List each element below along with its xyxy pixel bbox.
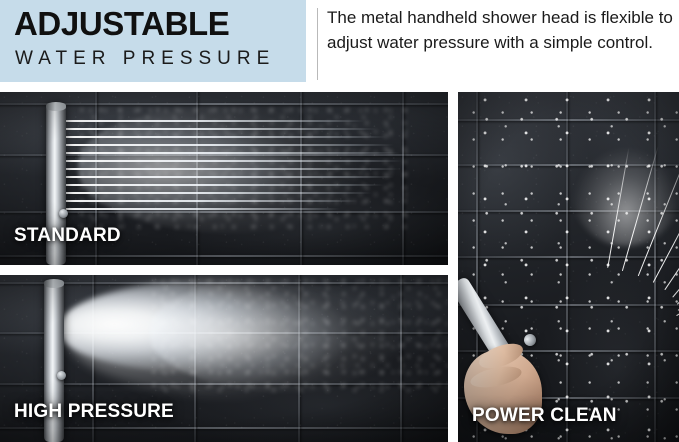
panel-power-clean: POWER CLEAN: [458, 92, 679, 442]
header-divider: [317, 8, 318, 80]
page-title: ADJUSTABLE: [14, 5, 304, 43]
panel-vignette: [458, 92, 679, 442]
header-description: The metal handheld shower head is flexib…: [327, 6, 675, 55]
product-infographic: ADJUSTABLE WATER PRESSURE The metal hand…: [0, 0, 679, 442]
header: ADJUSTABLE WATER PRESSURE The metal hand…: [0, 0, 679, 92]
caption-power-clean: POWER CLEAN: [472, 405, 617, 427]
page-subtitle: WATER PRESSURE: [15, 47, 307, 71]
caption-high-pressure: HIGH PRESSURE: [14, 401, 174, 423]
panel-high-pressure: HIGH PRESSURE: [0, 275, 448, 442]
caption-standard: STANDARD: [14, 225, 121, 247]
panel-standard: STANDARD: [0, 92, 448, 265]
